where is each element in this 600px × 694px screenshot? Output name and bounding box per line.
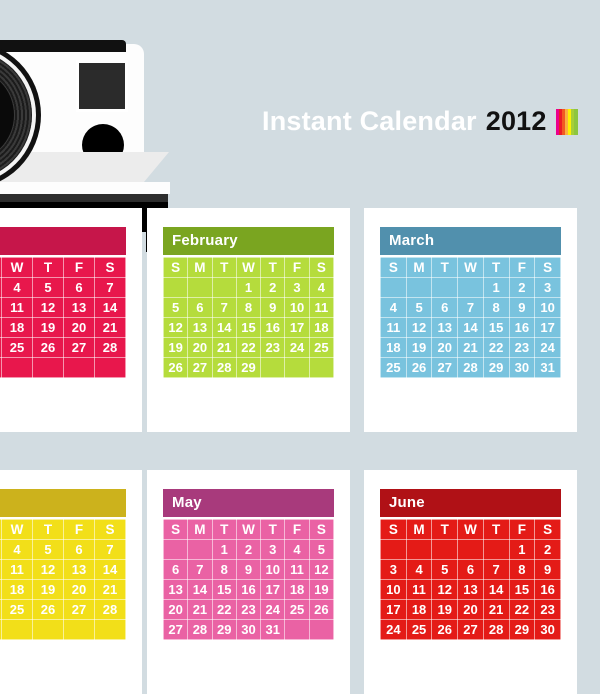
weekday-label: T (432, 520, 458, 540)
day-cell[interactable]: 17 (261, 580, 285, 600)
day-cell[interactable]: 18 (2, 580, 33, 600)
month-card-march[interactable]: MarchSMTWTFS 123456789101112131415161718… (364, 208, 577, 432)
day-cell[interactable]: 23 (236, 600, 260, 620)
week-row: 11121314151617 (381, 318, 561, 338)
day-cell-empty (458, 278, 484, 298)
day-cell[interactable]: 3 (535, 278, 561, 298)
day-cell[interactable]: 2 (261, 278, 285, 298)
day-cell[interactable]: 4 (2, 540, 33, 560)
day-cell[interactable]: 30 (509, 358, 535, 378)
week-row: 22232425262728 (0, 600, 126, 620)
day-cell[interactable]: 5 (432, 560, 458, 580)
weekday-label: S (535, 258, 561, 278)
day-cell[interactable]: 19 (432, 600, 458, 620)
month-day-grid: SMTWTFS123456789101112131415161718192021… (0, 519, 126, 640)
week-row: 6789101112 (164, 560, 334, 580)
month-card-february[interactable]: FebruarySMTWTFS 123456789101112131415161… (147, 208, 350, 432)
day-cell[interactable]: 16 (509, 318, 535, 338)
day-cell[interactable]: 9 (535, 560, 561, 580)
week-row: 26272829 (164, 358, 334, 378)
week-row: 18192021222324 (381, 338, 561, 358)
week-row: 3456789 (381, 560, 561, 580)
day-cell[interactable]: 29 (236, 358, 260, 378)
day-cell[interactable]: 17 (381, 600, 407, 620)
month-day-grid: SMTWTFS 12345678910111213141516171819202… (163, 519, 334, 640)
weekday-label: S (164, 520, 188, 540)
weekday-label: S (381, 520, 407, 540)
day-cell[interactable]: 22 (212, 600, 236, 620)
day-cell[interactable]: 3 (261, 540, 285, 560)
day-cell[interactable]: 6 (164, 560, 188, 580)
weekday-label: S (164, 258, 188, 278)
day-cell[interactable]: 23 (535, 600, 561, 620)
day-cell[interactable]: 7 (95, 278, 126, 298)
day-cell[interactable]: 19 (33, 318, 64, 338)
day-cell-empty (261, 358, 285, 378)
day-cell[interactable]: 31 (535, 358, 561, 378)
day-cell[interactable]: 15 (236, 318, 260, 338)
day-cell[interactable]: 8 (236, 298, 260, 318)
day-cell[interactable]: 9 (261, 298, 285, 318)
day-cell[interactable]: 3 (285, 278, 309, 298)
week-row: 12131415161718 (164, 318, 334, 338)
day-cell-empty (95, 620, 126, 640)
week-row: 891011121314 (0, 560, 126, 580)
week-row: 10111213141516 (381, 580, 561, 600)
day-cell[interactable]: 20 (188, 338, 212, 358)
day-cell-empty (309, 358, 333, 378)
month-day-grid: SMTWTFS 12345678910111213141516171819202… (380, 257, 561, 378)
day-cell[interactable]: 23 (261, 338, 285, 358)
day-cell[interactable]: 5 (164, 298, 188, 318)
day-cell[interactable]: 28 (483, 620, 509, 640)
day-cell[interactable]: 6 (64, 540, 95, 560)
day-cell[interactable]: 11 (309, 298, 333, 318)
day-cell[interactable]: 6 (458, 560, 484, 580)
day-cell[interactable]: 25 (2, 338, 33, 358)
day-cell[interactable]: 12 (164, 318, 188, 338)
weekday-label: M (188, 520, 212, 540)
calendar-grid: JanuarySMTWTFS12345678910111213141516171… (0, 0, 600, 600)
week-row: 123 (381, 278, 561, 298)
day-cell[interactable]: 21 (212, 338, 236, 358)
day-cell[interactable]: 13 (188, 318, 212, 338)
day-cell[interactable]: 10 (381, 580, 407, 600)
day-cell[interactable]: 7 (95, 540, 126, 560)
weekday-label: F (64, 520, 95, 540)
day-cell[interactable]: 21 (188, 600, 212, 620)
day-cell-empty (285, 620, 309, 640)
day-cell[interactable]: 28 (95, 600, 126, 620)
month-card-april[interactable]: AprilSMTWTFS1234567891011121314151617181… (0, 470, 142, 694)
day-cell[interactable]: 4 (309, 278, 333, 298)
day-cell[interactable]: 26 (164, 358, 188, 378)
day-cell[interactable]: 15 (483, 318, 509, 338)
day-cell[interactable]: 7 (458, 298, 484, 318)
day-cell[interactable]: 28 (212, 358, 236, 378)
day-cell[interactable]: 1 (509, 540, 535, 560)
weekday-label: F (285, 258, 309, 278)
day-cell-empty (164, 540, 188, 560)
weekday-label: T (33, 520, 64, 540)
weekday-header-row: SMTWTFS (381, 520, 561, 540)
weekday-label: T (212, 520, 236, 540)
day-cell[interactable]: 6 (188, 298, 212, 318)
week-row: 20212223242526 (164, 600, 334, 620)
weekday-label: T (432, 258, 458, 278)
day-cell[interactable]: 9 (236, 560, 260, 580)
day-cell-empty (95, 358, 126, 378)
weekday-label: W (2, 258, 33, 278)
day-cell[interactable]: 18 (309, 318, 333, 338)
day-cell[interactable]: 3 (381, 560, 407, 580)
day-cell[interactable]: 6 (64, 278, 95, 298)
day-cell[interactable]: 5 (33, 278, 64, 298)
weekday-label: S (95, 258, 126, 278)
day-cell[interactable]: 12 (33, 298, 64, 318)
weekday-label: T (261, 258, 285, 278)
month-name-header: June (380, 489, 561, 517)
weekday-label: W (458, 520, 484, 540)
day-cell-empty (381, 278, 407, 298)
day-cell[interactable]: 13 (432, 318, 458, 338)
day-cell[interactable]: 5 (309, 540, 333, 560)
week-row: 1234567 (0, 540, 126, 560)
day-cell-empty (483, 540, 509, 560)
day-cell[interactable]: 22 (236, 338, 260, 358)
day-cell[interactable]: 15 (509, 580, 535, 600)
weekday-label: T (212, 258, 236, 278)
day-cell[interactable]: 14 (458, 318, 484, 338)
day-cell[interactable]: 7 (188, 560, 212, 580)
day-cell[interactable]: 10 (535, 298, 561, 318)
weekday-label: W (236, 258, 260, 278)
month-card-january[interactable]: JanuarySMTWTFS12345678910111213141516171… (0, 208, 142, 432)
weekday-label: W (2, 520, 33, 540)
day-cell[interactable]: 9 (509, 298, 535, 318)
weekday-header-row: SMTWTFS (164, 520, 334, 540)
day-cell-empty (64, 620, 95, 640)
weekday-header-row: SMTWTFS (0, 520, 126, 540)
day-cell[interactable]: 29 (212, 620, 236, 640)
day-cell[interactable]: 26 (33, 338, 64, 358)
day-cell[interactable]: 12 (33, 560, 64, 580)
day-cell[interactable]: 20 (64, 580, 95, 600)
day-cell-empty (33, 358, 64, 378)
day-cell[interactable]: 26 (406, 358, 432, 378)
weekday-label: F (509, 520, 535, 540)
day-cell[interactable]: 1 (483, 278, 509, 298)
day-cell[interactable]: 2 (236, 540, 260, 560)
weekday-label: T (261, 520, 285, 540)
day-cell[interactable]: 28 (95, 338, 126, 358)
week-row: 567891011 (164, 298, 334, 318)
day-cell[interactable]: 15 (212, 580, 236, 600)
day-cell[interactable]: 23 (509, 338, 535, 358)
day-cell[interactable]: 7 (212, 298, 236, 318)
day-cell[interactable]: 18 (2, 318, 33, 338)
week-row: 293031 (0, 358, 126, 378)
day-cell[interactable]: 6 (432, 298, 458, 318)
day-cell[interactable]: 22 (509, 600, 535, 620)
day-cell-empty (285, 358, 309, 378)
day-cell[interactable]: 13 (164, 580, 188, 600)
day-cell[interactable]: 14 (483, 580, 509, 600)
day-cell-empty (188, 540, 212, 560)
week-row: 1234 (164, 278, 334, 298)
day-cell[interactable]: 13 (64, 298, 95, 318)
day-cell[interactable]: 27 (64, 600, 95, 620)
day-cell[interactable]: 11 (2, 298, 33, 318)
day-cell-empty (309, 620, 333, 640)
weekday-header-row: SMTWTFS (164, 258, 334, 278)
day-cell-empty (406, 278, 432, 298)
day-cell[interactable]: 20 (64, 318, 95, 338)
day-cell[interactable]: 17 (285, 318, 309, 338)
day-cell[interactable]: 21 (95, 318, 126, 338)
day-cell[interactable]: 28 (458, 358, 484, 378)
weekday-label: F (509, 258, 535, 278)
day-cell[interactable]: 1 (212, 540, 236, 560)
day-cell[interactable]: 25 (2, 600, 33, 620)
weekday-label: F (285, 520, 309, 540)
week-row: 19202122232425 (164, 338, 334, 358)
day-cell[interactable]: 29 (509, 620, 535, 640)
day-cell[interactable]: 18 (406, 600, 432, 620)
day-cell[interactable]: 25 (406, 620, 432, 640)
day-cell[interactable]: 28 (188, 620, 212, 640)
weekday-label: M (406, 520, 432, 540)
day-cell[interactable]: 16 (236, 580, 260, 600)
day-cell[interactable]: 19 (309, 580, 333, 600)
day-cell-empty (406, 540, 432, 560)
day-cell[interactable]: 1 (236, 278, 260, 298)
day-cell[interactable]: 4 (2, 278, 33, 298)
day-cell-empty (188, 278, 212, 298)
day-cell[interactable]: 20 (432, 338, 458, 358)
day-cell[interactable]: 19 (164, 338, 188, 358)
day-cell[interactable]: 24 (285, 338, 309, 358)
day-cell[interactable]: 18 (381, 338, 407, 358)
day-cell[interactable]: 26 (33, 600, 64, 620)
day-cell-empty (164, 278, 188, 298)
week-row: 12345 (164, 540, 334, 560)
day-cell[interactable]: 14 (95, 298, 126, 318)
week-row: 45678910 (381, 298, 561, 318)
day-cell[interactable]: 27 (64, 338, 95, 358)
month-card-june[interactable]: JuneSMTWTFS 1234567891011121314151617181… (364, 470, 577, 694)
week-row: 17181920212223 (381, 600, 561, 620)
day-cell-empty (2, 358, 33, 378)
day-cell[interactable]: 11 (285, 560, 309, 580)
day-cell[interactable]: 26 (309, 600, 333, 620)
day-cell[interactable]: 25 (381, 358, 407, 378)
day-cell[interactable]: 17 (535, 318, 561, 338)
day-cell[interactable]: 5 (406, 298, 432, 318)
month-day-grid: SMTWTFS 12345678910111213141516171819202… (163, 257, 334, 378)
week-row: 1234567 (0, 278, 126, 298)
week-row: 25262728293031 (381, 358, 561, 378)
week-row: 2728293031 (164, 620, 334, 640)
month-day-grid: SMTWTFS 12345678910111213141516171819202… (380, 519, 561, 640)
day-cell[interactable]: 10 (261, 560, 285, 580)
day-cell-empty (2, 620, 33, 640)
day-cell[interactable]: 14 (188, 580, 212, 600)
week-row: 15161718192021 (0, 580, 126, 600)
weekday-label: F (64, 258, 95, 278)
day-cell[interactable]: 7 (483, 560, 509, 580)
day-cell[interactable]: 11 (381, 318, 407, 338)
week-row: 2930 (0, 620, 126, 640)
day-cell-empty (64, 358, 95, 378)
week-row: 22232425262728 (0, 338, 126, 358)
weekday-label: T (33, 258, 64, 278)
day-cell[interactable]: 12 (432, 580, 458, 600)
day-cell[interactable]: 24 (381, 620, 407, 640)
week-row: 13141516171819 (164, 580, 334, 600)
month-name-header: January (0, 227, 126, 255)
month-card-may[interactable]: MaySMTWTFS 12345678910111213141516171819… (147, 470, 350, 694)
weekday-label: S (381, 258, 407, 278)
day-cell[interactable]: 18 (285, 580, 309, 600)
month-day-grid: SMTWTFS123456789101112131415161718192021… (0, 257, 126, 378)
day-cell[interactable]: 25 (309, 338, 333, 358)
day-cell[interactable]: 20 (458, 600, 484, 620)
day-cell[interactable]: 4 (406, 560, 432, 580)
weekday-header-row: SMTWTFS (0, 258, 126, 278)
day-cell[interactable]: 2 (509, 278, 535, 298)
day-cell[interactable]: 11 (406, 580, 432, 600)
weekday-label: S (309, 520, 333, 540)
day-cell-empty (432, 278, 458, 298)
week-row: 15161718192021 (0, 318, 126, 338)
day-cell[interactable]: 16 (261, 318, 285, 338)
day-cell[interactable]: 24 (261, 600, 285, 620)
day-cell[interactable]: 27 (458, 620, 484, 640)
day-cell[interactable]: 13 (458, 580, 484, 600)
day-cell[interactable]: 5 (33, 540, 64, 560)
day-cell[interactable]: 4 (285, 540, 309, 560)
day-cell-empty (212, 278, 236, 298)
day-cell[interactable]: 27 (164, 620, 188, 640)
day-cell[interactable]: 10 (285, 298, 309, 318)
day-cell[interactable]: 27 (432, 358, 458, 378)
weekday-label: W (236, 520, 260, 540)
day-cell[interactable]: 4 (381, 298, 407, 318)
day-cell[interactable]: 8 (509, 560, 535, 580)
month-name-header: May (163, 489, 334, 517)
day-cell[interactable]: 21 (458, 338, 484, 358)
day-cell[interactable]: 16 (535, 580, 561, 600)
month-name-header: March (380, 227, 561, 255)
day-cell[interactable]: 8 (212, 560, 236, 580)
day-cell-empty (458, 540, 484, 560)
weekday-label: S (535, 520, 561, 540)
weekday-label: S (95, 520, 126, 540)
day-cell[interactable]: 29 (483, 358, 509, 378)
day-cell-empty (33, 620, 64, 640)
day-cell[interactable]: 30 (535, 620, 561, 640)
weekday-label: W (458, 258, 484, 278)
day-cell[interactable]: 14 (95, 560, 126, 580)
day-cell-empty (432, 540, 458, 560)
day-cell[interactable]: 24 (535, 338, 561, 358)
day-cell[interactable]: 27 (188, 358, 212, 378)
day-cell[interactable]: 31 (261, 620, 285, 640)
day-cell[interactable]: 11 (2, 560, 33, 580)
day-cell[interactable]: 12 (406, 318, 432, 338)
day-cell-empty (381, 540, 407, 560)
month-name-header: April (0, 489, 126, 517)
day-cell[interactable]: 2 (535, 540, 561, 560)
month-name-header: February (163, 227, 334, 255)
weekday-label: T (483, 520, 509, 540)
day-cell[interactable]: 19 (406, 338, 432, 358)
week-row: 12 (381, 540, 561, 560)
day-cell[interactable]: 20 (164, 600, 188, 620)
weekday-label: S (309, 258, 333, 278)
day-cell[interactable]: 30 (236, 620, 260, 640)
week-row: 891011121314 (0, 298, 126, 318)
weekday-label: M (188, 258, 212, 278)
day-cell[interactable]: 12 (309, 560, 333, 580)
day-cell[interactable]: 26 (432, 620, 458, 640)
weekday-header-row: SMTWTFS (381, 258, 561, 278)
day-cell[interactable]: 25 (285, 600, 309, 620)
day-cell[interactable]: 21 (95, 580, 126, 600)
day-cell[interactable]: 14 (212, 318, 236, 338)
day-cell[interactable]: 22 (483, 338, 509, 358)
day-cell[interactable]: 21 (483, 600, 509, 620)
day-cell[interactable]: 13 (64, 560, 95, 580)
weekday-label: T (483, 258, 509, 278)
day-cell[interactable]: 19 (33, 580, 64, 600)
day-cell[interactable]: 8 (483, 298, 509, 318)
weekday-label: M (406, 258, 432, 278)
week-row: 24252627282930 (381, 620, 561, 640)
